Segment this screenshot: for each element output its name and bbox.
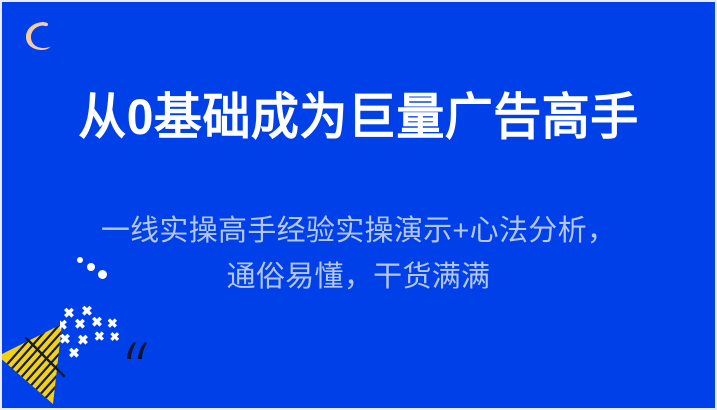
crescent-moon-icon	[22, 19, 52, 52]
dot-2	[87, 263, 95, 271]
subtitle-line-1: 一线实操高手经验实操演示+心法分析，	[2, 208, 715, 254]
dot-3	[98, 270, 107, 279]
poster-title: 从0基础成为巨量广告高手	[16, 86, 700, 148]
poster-canvas: 从0基础成为巨量广告高手 一线实操高手经验实操演示+心法分析， 通俗易懂，干货满…	[0, 0, 717, 410]
three-dots-decoration	[76, 254, 112, 280]
dot-1	[77, 257, 83, 263]
quotation-mark-decoration	[121, 339, 155, 365]
